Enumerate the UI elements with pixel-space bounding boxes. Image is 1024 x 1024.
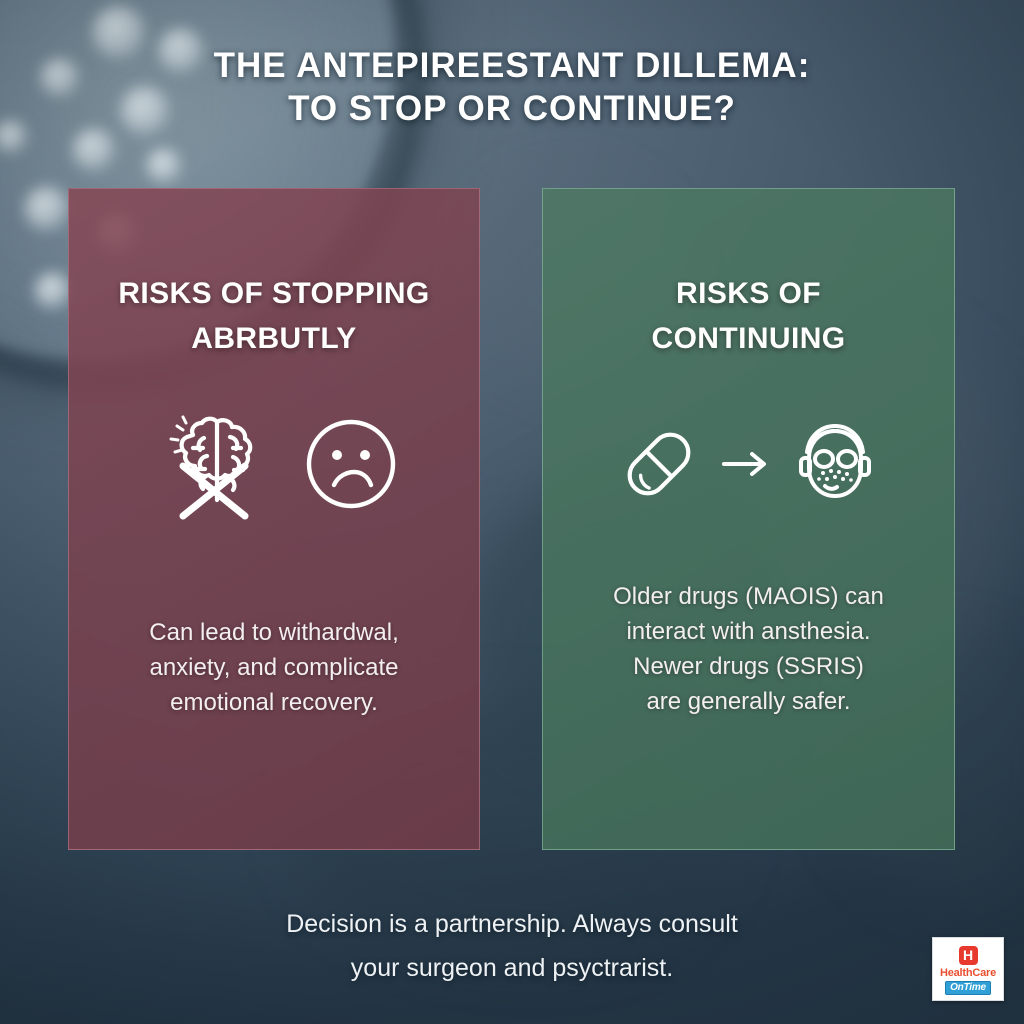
left-heading-line-2: ABRBUTLY bbox=[109, 316, 439, 361]
arrow-right-icon bbox=[719, 444, 771, 484]
mask-left-lens bbox=[815, 451, 833, 467]
logo-h-mark: H bbox=[959, 946, 978, 965]
left-body-line-3: emotional recovery. bbox=[104, 685, 444, 720]
infographic-canvas: THE ANTEPIREESTANT DILLEMA: TO STOP OR C… bbox=[0, 0, 1024, 1024]
sad-face-frown bbox=[334, 472, 371, 485]
left-panel-heading: RISKS OF STOPPING ABRBUTLY bbox=[109, 271, 439, 361]
left-body-line-1: Can lead to withardwal, bbox=[104, 615, 444, 650]
face-speckles bbox=[817, 469, 853, 482]
right-body-line-2: interact with ansthesia. bbox=[579, 614, 919, 649]
right-body-line-3: Newer drugs (SSRIS) bbox=[579, 649, 919, 684]
face-left-strap bbox=[801, 458, 810, 475]
right-panel-icon-row bbox=[613, 409, 885, 519]
logo-brand-name: HealthCare bbox=[940, 967, 996, 980]
right-heading-line-1: RISKS OF bbox=[584, 271, 914, 316]
face-anesthesia-mask-icon bbox=[785, 414, 885, 514]
panel-risks-of-continuing: RISKS OF CONTINUING bbox=[542, 188, 955, 850]
face-right-strap bbox=[860, 458, 869, 475]
face-mouth bbox=[825, 486, 837, 489]
brain-crossed-out-icon bbox=[149, 408, 277, 520]
mask-right-lens bbox=[838, 451, 856, 467]
left-body-line-2: anxiety, and complicate bbox=[104, 650, 444, 685]
logo-brand-sub: OnTime bbox=[945, 981, 991, 995]
footer-note: Decision is a partnership. Always consul… bbox=[0, 902, 1024, 990]
sad-face-right-eye bbox=[360, 450, 370, 460]
capsule-highlight bbox=[637, 475, 650, 488]
title-line-2: TO STOP OR CONTINUE? bbox=[0, 87, 1024, 130]
right-panel-heading: RISKS OF CONTINUING bbox=[584, 271, 914, 361]
right-panel-body: Older drugs (MAOIS) can interact with an… bbox=[579, 579, 919, 719]
left-heading-line-1: RISKS OF STOPPING bbox=[109, 271, 439, 316]
footer-line-2: your surgeon and psyctrarist. bbox=[0, 946, 1024, 990]
panel-risks-of-stopping: RISKS OF STOPPING ABRBUTLY bbox=[68, 188, 480, 850]
sad-face-outline bbox=[309, 422, 393, 506]
left-panel-icon-row bbox=[149, 409, 399, 519]
footer-line-1: Decision is a partnership. Always consul… bbox=[0, 902, 1024, 946]
sad-face-left-eye bbox=[332, 450, 342, 460]
left-panel-body: Can lead to withardwal, anxiety, and com… bbox=[104, 615, 444, 720]
right-body-line-4: are generally safer. bbox=[579, 684, 919, 719]
title-line-1: THE ANTEPIREESTANT DILLEMA: bbox=[0, 44, 1024, 87]
page-title: THE ANTEPIREESTANT DILLEMA: TO STOP OR C… bbox=[0, 44, 1024, 130]
right-heading-line-2: CONTINUING bbox=[584, 316, 914, 361]
capsule-divider bbox=[646, 451, 671, 476]
brand-logo[interactable]: H HealthCare OnTime bbox=[932, 937, 1004, 1001]
right-body-line-1: Older drugs (MAOIS) can bbox=[579, 579, 919, 614]
cross-out-mark bbox=[183, 466, 245, 516]
pill-capsule-icon bbox=[613, 418, 705, 510]
sad-face-icon bbox=[303, 416, 399, 512]
